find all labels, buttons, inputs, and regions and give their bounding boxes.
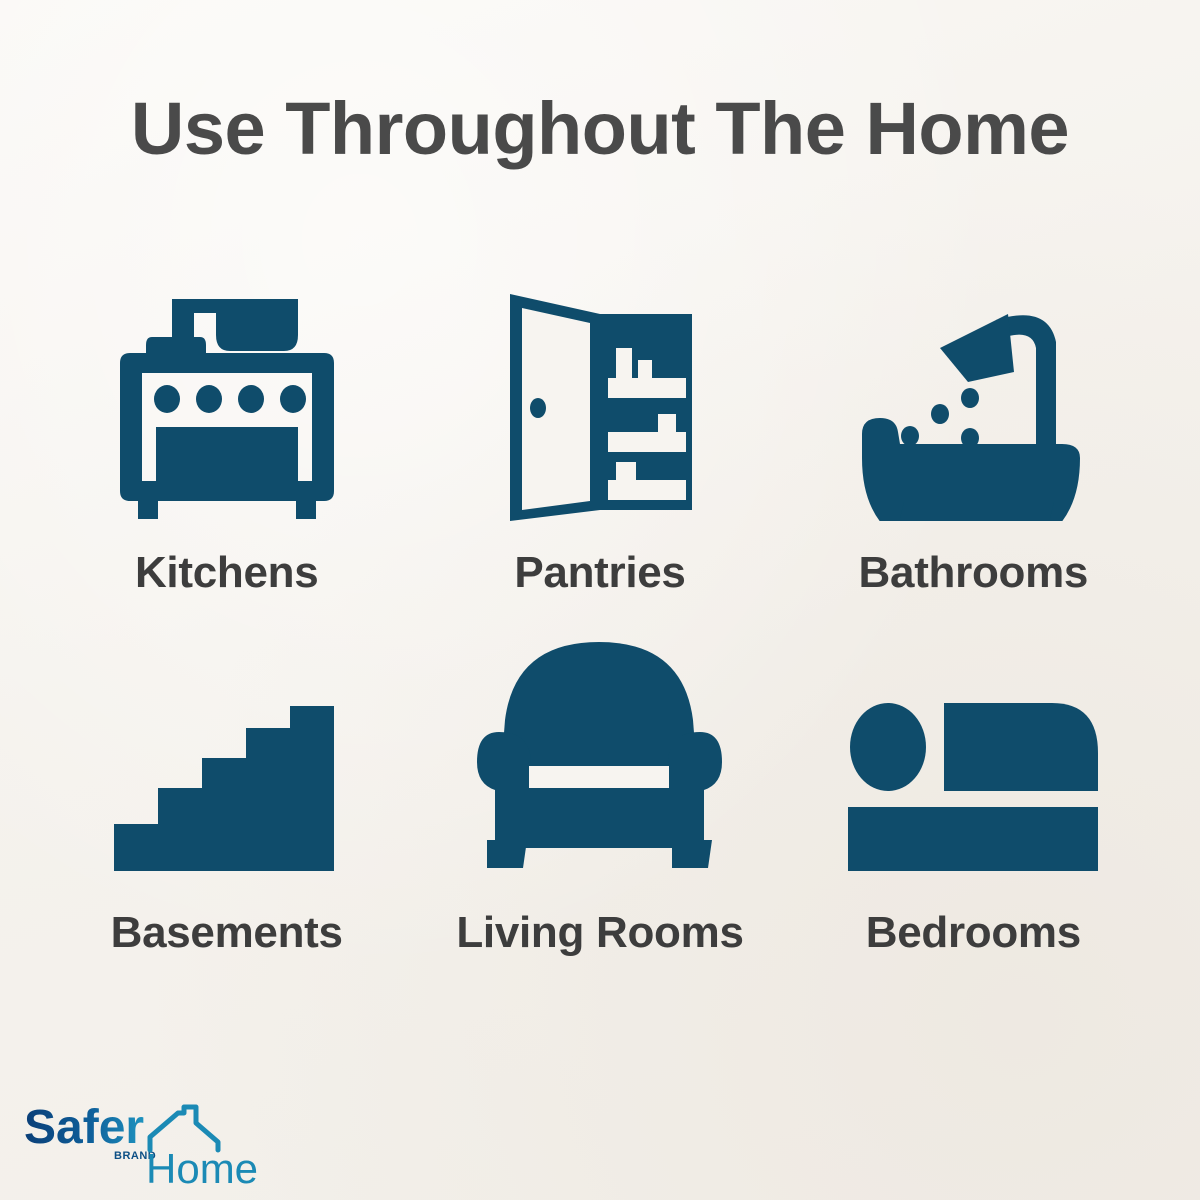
page-title: Use Throughout The Home bbox=[0, 92, 1200, 166]
room-cell-kitchens[interactable]: Kitchens bbox=[40, 235, 413, 595]
stairs-icon bbox=[114, 631, 339, 871]
pantry-cabinet-icon bbox=[500, 271, 700, 521]
room-label: Kitchens bbox=[135, 551, 318, 595]
room-cell-bedrooms[interactable]: Bedrooms bbox=[787, 595, 1160, 955]
room-label: Basements bbox=[111, 911, 343, 955]
room-cell-living-rooms[interactable]: Living Rooms bbox=[413, 595, 786, 955]
logo-safer-text: Safer bbox=[24, 1101, 144, 1154]
room-label: Bedrooms bbox=[866, 911, 1081, 955]
logo-home-text: Home bbox=[146, 1145, 258, 1192]
brand-logo[interactable]: Safer BRAND Home bbox=[22, 1097, 272, 1192]
room-cell-bathrooms[interactable]: Bathrooms bbox=[787, 235, 1160, 595]
room-label: Bathrooms bbox=[859, 551, 1089, 595]
stove-icon bbox=[112, 271, 342, 521]
room-cell-pantries[interactable]: Pantries bbox=[413, 235, 786, 595]
armchair-icon bbox=[477, 631, 722, 871]
room-cell-basements[interactable]: Basements bbox=[40, 595, 413, 955]
room-label: Pantries bbox=[514, 551, 685, 595]
house-roof-icon bbox=[150, 1107, 218, 1150]
room-label: Living Rooms bbox=[456, 911, 743, 955]
infographic-page: Use Throughout The Home bbox=[0, 0, 1200, 1200]
bathtub-shower-icon bbox=[848, 271, 1098, 521]
rooms-grid: Kitchens bbox=[40, 235, 1160, 955]
bed-icon bbox=[848, 631, 1098, 871]
